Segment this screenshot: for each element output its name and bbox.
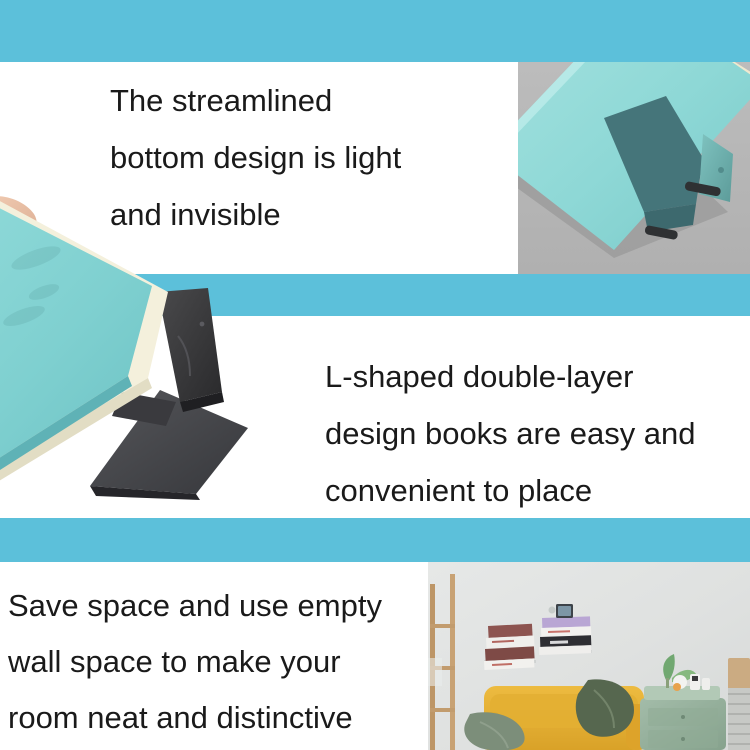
copy-block-l-shaped: L-shaped double-layer design books are e… [325,348,745,519]
copy-block-save-space: Save space and use empty wall space to m… [8,578,438,746]
wall-shelf-left [484,624,536,670]
copy-line: room neat and distinctive [8,690,438,746]
copy-line: wall space to make your [8,634,438,690]
black-l-shaped-stand [158,288,222,402]
copy-line: design books are easy and [325,405,745,462]
book-stand-top-view-photo [518,62,750,274]
mint-cabinet [640,686,726,750]
copy-line: L-shaped double-layer [325,348,745,405]
copy-line: Save space and use empty [8,578,438,634]
living-room-wall-shelf-photo [428,562,750,750]
stacked-books [484,624,535,670]
lower-accent-band [0,518,750,562]
hand-holding-book-on-stand-photo [0,196,300,518]
copy-line: The streamlined [110,72,530,129]
product-listing-image: The streamlined bottom design is light a… [0,0,750,750]
wicker-basket [728,658,750,750]
copy-line: bottom design is light [110,129,530,186]
stacked-books [539,616,591,655]
copy-line: convenient to place [325,462,745,519]
top-accent-band [0,0,750,62]
